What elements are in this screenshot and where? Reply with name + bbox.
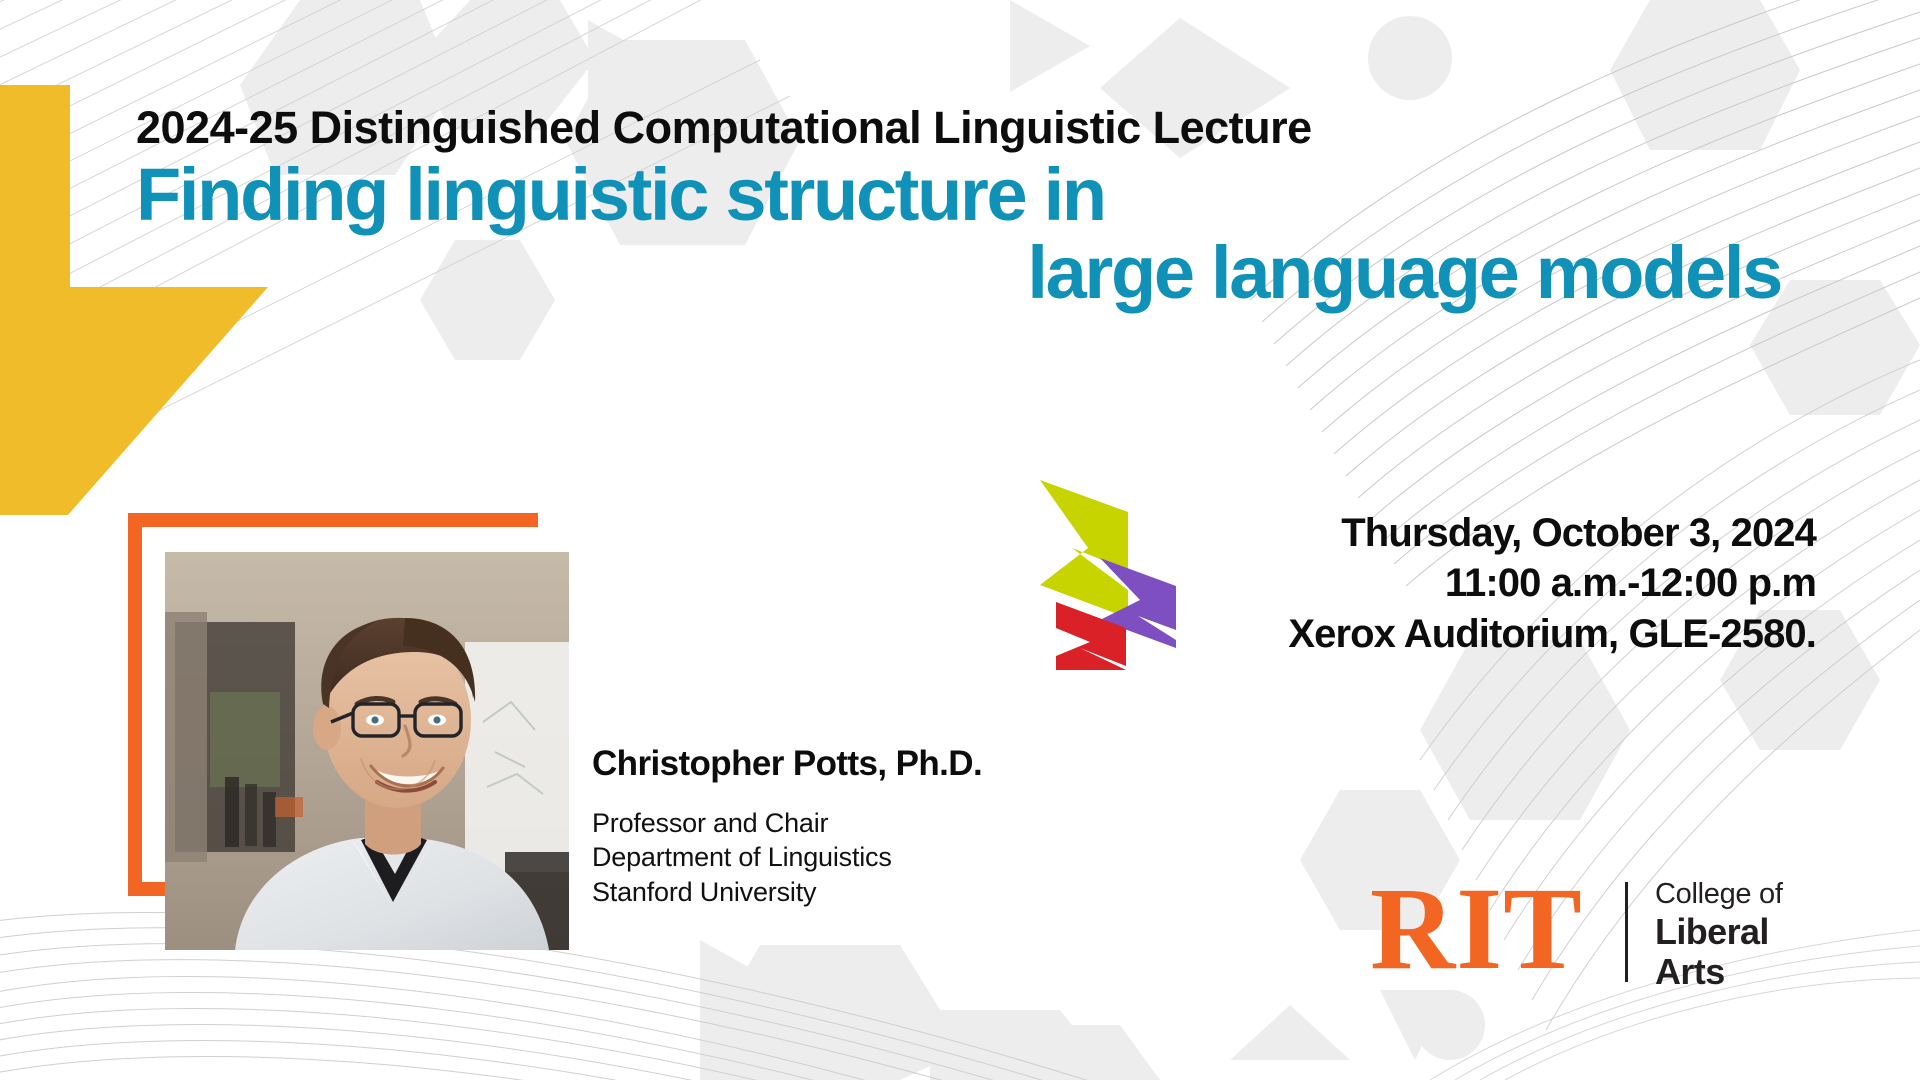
- speaker-affiliation-line: Stanford University: [592, 875, 982, 910]
- rit-logo-subtext: College of Liberal Arts: [1655, 878, 1783, 992]
- speaker-affiliation: Professor and Chair Department of Lingui…: [592, 806, 982, 910]
- event-time: 11:00 a.m.-12:00 p.m: [1288, 558, 1816, 608]
- speaker-photo-illustration: [165, 552, 569, 950]
- lecture-series-eyebrow: 2024-25 Distinguished Computational Ling…: [136, 104, 1796, 151]
- lecture-title-line-2: large language models: [136, 235, 1781, 311]
- three-color-chevron-mark-icon: [1018, 470, 1193, 670]
- poster-canvas: 2024-25 Distinguished Computational Ling…: [0, 0, 1920, 1080]
- speaker-name: Christopher Potts, Ph.D.: [592, 745, 982, 784]
- speaker-photo-block: [128, 513, 568, 943]
- chevron-mark-svg: [1018, 470, 1193, 670]
- lecture-title-line-1: Finding linguistic structure in: [136, 157, 1796, 233]
- speaker-affiliation-line: Department of Linguistics: [592, 840, 982, 875]
- speaker-info-block: Christopher Potts, Ph.D. Professor and C…: [592, 745, 982, 909]
- rit-wordmark: RIT: [1370, 870, 1583, 988]
- event-date: Thursday, October 3, 2024: [1288, 508, 1816, 558]
- event-location: Xerox Auditorium, GLE-2580.: [1288, 609, 1816, 659]
- headline-block: 2024-25 Distinguished Computational Ling…: [136, 104, 1796, 312]
- rit-logo-line-arts: Arts: [1655, 952, 1783, 992]
- event-details-block: Thursday, October 3, 2024 11:00 a.m.-12:…: [1288, 508, 1816, 659]
- rit-logo-line-liberal: Liberal: [1655, 912, 1783, 952]
- speaker-affiliation-line: Professor and Chair: [592, 806, 982, 841]
- logo-divider: [1625, 882, 1628, 982]
- rit-college-of-liberal-arts-logo: RIT College of Liberal Arts: [1370, 870, 1790, 1000]
- speaker-photo: [165, 552, 569, 950]
- rit-logo-line-college-of: College of: [1655, 878, 1783, 912]
- orange-photo-frame-top-bar: [128, 513, 538, 527]
